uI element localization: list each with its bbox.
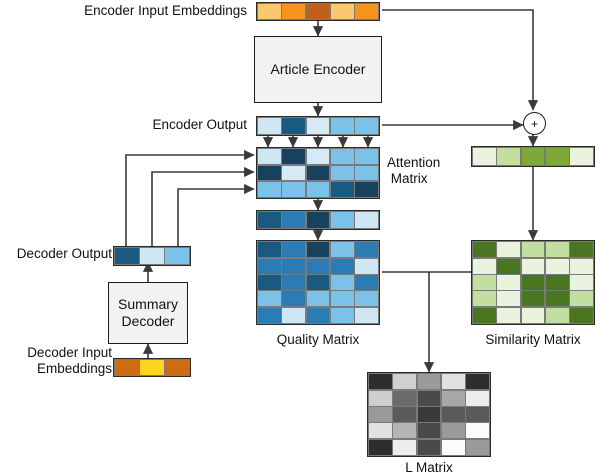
- matrix-cell: [473, 242, 496, 257]
- matrix-cell: [442, 423, 465, 438]
- matrix-cell: [307, 212, 330, 227]
- matrix-cell: [307, 166, 330, 181]
- matrix-cell: [497, 291, 520, 306]
- matrix-cell: [393, 423, 416, 438]
- quality-matrix-grid[interactable]: [256, 240, 380, 325]
- decoder-output-label: Decoder Output: [0, 246, 112, 262]
- matrix-cell: [473, 275, 496, 290]
- similarity-matrix-grid[interactable]: [471, 240, 595, 325]
- matrix-cell: [331, 4, 354, 18]
- matrix-cell: [355, 259, 378, 274]
- matrix-cell: [369, 391, 392, 406]
- matrix-cell: [258, 242, 281, 257]
- matrix-cell: [393, 374, 416, 389]
- matrix-cell: [282, 308, 305, 323]
- matrix-cell: [282, 275, 305, 290]
- matrix-cell: [466, 407, 489, 422]
- matrix-cell: [570, 291, 593, 306]
- matrix-cell: [570, 275, 593, 290]
- l-matrix-grid[interactable]: [367, 372, 491, 457]
- matrix-cell: [331, 182, 354, 197]
- matrix-cell: [497, 259, 520, 274]
- matrix-cell: [331, 242, 354, 257]
- matrix-cell: [418, 440, 441, 455]
- matrix-cell: [307, 182, 330, 197]
- matrix-cell: [570, 308, 593, 323]
- matrix-cell: [282, 149, 305, 164]
- matrix-cell: [522, 275, 545, 290]
- matrix-cell: [282, 212, 305, 227]
- matrix-cell: [497, 275, 520, 290]
- matrix-cell: [466, 440, 489, 455]
- matrix-cell: [115, 248, 139, 263]
- matrix-cell: [165, 360, 189, 374]
- matrix-cell: [442, 391, 465, 406]
- matrix-cell: [497, 308, 520, 323]
- matrix-cell: [522, 259, 545, 274]
- matrix-cell: [307, 291, 330, 306]
- matrix-cell: [497, 148, 520, 164]
- matrix-cell: [282, 118, 305, 133]
- attention-pooled-row-grid[interactable]: [256, 210, 380, 230]
- matrix-cell: [418, 423, 441, 438]
- encoder-input-embeddings-grid[interactable]: [256, 2, 380, 21]
- matrix-cell: [331, 166, 354, 181]
- matrix-cell: [546, 275, 569, 290]
- matrix-cell: [258, 291, 281, 306]
- matrix-cell: [497, 242, 520, 257]
- matrix-cell: [369, 440, 392, 455]
- matrix-cell: [355, 291, 378, 306]
- matrix-cell: [546, 259, 569, 274]
- matrix-cell: [258, 212, 281, 227]
- matrix-cell: [473, 148, 496, 164]
- matrix-cell: [331, 308, 354, 323]
- matrix-cell: [522, 308, 545, 323]
- matrix-cell: [570, 259, 593, 274]
- matrix-cell: [570, 242, 593, 257]
- matrix-cell: [466, 391, 489, 406]
- matrix-cell: [331, 275, 354, 290]
- matrix-cell: [355, 182, 378, 197]
- encoder-output-label: Encoder Output: [122, 117, 247, 133]
- matrix-cell: [140, 248, 164, 263]
- matrix-cell: [355, 212, 378, 227]
- matrix-cell: [331, 118, 354, 133]
- matrix-cell: [307, 259, 330, 274]
- matrix-cell: [466, 374, 489, 389]
- matrix-cell: [258, 259, 281, 274]
- matrix-cell: [546, 308, 569, 323]
- matrix-cell: [331, 149, 354, 164]
- matrix-cell: [466, 423, 489, 438]
- matrix-cell: [418, 407, 441, 422]
- matrix-cell: [258, 308, 281, 323]
- matrix-cell: [418, 374, 441, 389]
- matrix-cell: [165, 248, 189, 263]
- matrix-cell: [307, 149, 330, 164]
- matrix-cell: [393, 440, 416, 455]
- matrix-cell: [522, 242, 545, 257]
- plus-node: +: [523, 112, 546, 135]
- matrix-cell: [307, 308, 330, 323]
- quality-matrix-label: Quality Matrix: [248, 332, 388, 348]
- decoder-input-embeddings-grid[interactable]: [113, 358, 191, 377]
- l-matrix-label: L Matrix: [359, 460, 499, 476]
- matrix-cell: [442, 374, 465, 389]
- matrix-cell: [546, 148, 569, 164]
- matrix-cell: [546, 291, 569, 306]
- matrix-cell: [393, 391, 416, 406]
- matrix-cell: [282, 259, 305, 274]
- matrix-cell: [355, 149, 378, 164]
- matrix-cell: [393, 407, 416, 422]
- matrix-cell: [570, 148, 593, 164]
- matrix-cell: [355, 166, 378, 181]
- matrix-cell: [307, 275, 330, 290]
- similarity-matrix-label: Similarity Matrix: [463, 332, 600, 348]
- matrix-cell: [307, 242, 330, 257]
- attention-matrix-grid[interactable]: [256, 147, 380, 199]
- matrix-cell: [331, 212, 354, 227]
- matrix-cell: [418, 391, 441, 406]
- matrix-cell: [546, 242, 569, 257]
- matrix-cell: [258, 275, 281, 290]
- matrix-cell: [355, 308, 378, 323]
- matrix-cell: [355, 118, 378, 133]
- matrix-cell: [258, 149, 281, 164]
- decoder-output-grid[interactable]: [113, 246, 191, 266]
- matrix-cell: [282, 4, 305, 18]
- matrix-cell: [258, 4, 281, 18]
- summary-decoder-box[interactable]: SummaryDecoder: [108, 282, 188, 344]
- similarity-row-grid[interactable]: [471, 146, 595, 167]
- attention-matrix-label: Attention Matrix: [387, 155, 467, 187]
- matrix-cell: [369, 423, 392, 438]
- matrix-cell: [331, 259, 354, 274]
- matrix-cell: [473, 291, 496, 306]
- matrix-cell: [331, 291, 354, 306]
- matrix-cell: [369, 407, 392, 422]
- matrix-cell: [442, 440, 465, 455]
- matrix-cell: [282, 166, 305, 181]
- matrix-cell: [522, 148, 545, 164]
- matrix-cell: [307, 118, 330, 133]
- matrix-cell: [442, 407, 465, 422]
- encoder-input-label: Encoder Input Embeddings: [62, 3, 247, 19]
- article-encoder-box[interactable]: Article Encoder: [254, 36, 382, 103]
- matrix-cell: [258, 166, 281, 181]
- matrix-cell: [473, 308, 496, 323]
- matrix-cell: [355, 242, 378, 257]
- encoder-output-grid[interactable]: [256, 116, 380, 136]
- diagram-canvas: Encoder Input Embeddings Encoder Output …: [0, 0, 600, 476]
- matrix-cell: [369, 374, 392, 389]
- matrix-cell: [522, 291, 545, 306]
- matrix-cell: [115, 360, 139, 374]
- decoder-input-label: Decoder InputEmbeddings: [0, 345, 112, 377]
- matrix-cell: [258, 118, 281, 133]
- matrix-cell: [258, 182, 281, 197]
- plus-symbol: +: [531, 118, 538, 130]
- matrix-cell: [282, 182, 305, 197]
- matrix-cell: [282, 242, 305, 257]
- matrix-cell: [355, 275, 378, 290]
- matrix-cell: [282, 291, 305, 306]
- matrix-cell: [140, 360, 164, 374]
- matrix-cell: [307, 4, 330, 18]
- matrix-cell: [473, 259, 496, 274]
- matrix-cell: [355, 4, 378, 18]
